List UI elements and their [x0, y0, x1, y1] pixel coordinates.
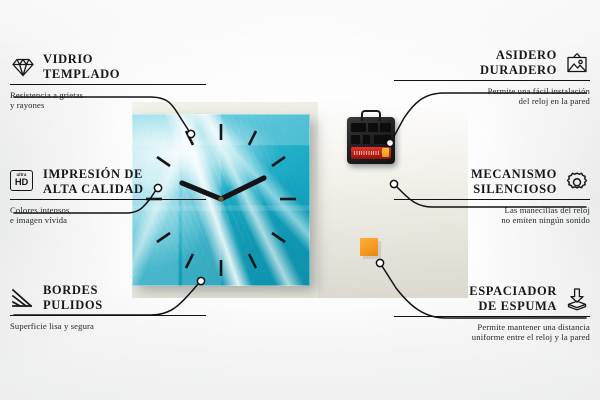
feature-divider: [394, 316, 590, 317]
hanging-picture-icon: [564, 51, 590, 75]
foam-spacer-pad: [360, 238, 378, 256]
gear-icon: [564, 170, 590, 194]
feature-desc-line2: del reloj en la pared: [394, 96, 590, 106]
feature-divider: [10, 315, 206, 316]
feature-title-line1: IMPRESIÓN DE: [43, 167, 144, 182]
diagonal-lines-icon: [10, 286, 36, 310]
infographic-page: VIDRIO TEMPLADO Resistencia a grietas y …: [0, 0, 600, 400]
feature-title-line2: DURADERO: [480, 63, 557, 78]
feature-bordes-pulidos: BORDES PULIDOS Superficie lisa y segura: [10, 283, 206, 331]
feature-mecanismo-silencioso: MECANISMO SILENCIOSO Las manecillas del …: [394, 167, 590, 226]
feature-title-line1: ESPACIADOR: [469, 284, 557, 299]
feature-title-line2: SILENCIOSO: [471, 182, 557, 197]
feature-title-line1: ASIDERO: [480, 48, 557, 63]
feature-description: Las manecillas del reloj no emiten ningú…: [394, 205, 590, 226]
feature-title-line2: DE ESPUMA: [469, 299, 557, 314]
diamond-icon: [10, 55, 36, 79]
feature-title: ASIDERO DURADERO: [480, 48, 557, 77]
clock-movement-mechanism: [347, 117, 395, 164]
feature-desc-line1: Permite mantener una distancia: [394, 322, 590, 332]
clock-minute-hand: [221, 178, 264, 199]
feature-title: IMPRESIÓN DE ALTA CALIDAD: [43, 167, 144, 196]
feature-espaciador-de-espuma: ESPACIADOR DE ESPUMA Permite mantener un…: [394, 284, 590, 343]
hd-icon-hd-text: HD: [15, 177, 28, 187]
feature-title-line1: MECANISMO: [471, 167, 557, 182]
feature-title: MECANISMO SILENCIOSO: [471, 167, 557, 196]
ultra-hd-icon: ultra HD: [10, 170, 36, 194]
battery-label-text: [354, 151, 380, 155]
movement-housing-detail: [351, 123, 391, 145]
feature-desc-line2: e imagen vívida: [10, 215, 206, 225]
feature-header: ESPACIADOR DE ESPUMA: [394, 284, 590, 313]
feature-divider: [394, 199, 590, 200]
feature-title: BORDES PULIDOS: [43, 283, 103, 312]
feature-divider: [10, 84, 206, 85]
feature-description: Superficie lisa y segura: [10, 321, 206, 331]
feature-header: ultra HD IMPRESIÓN DE ALTA CALIDAD: [10, 167, 206, 196]
feature-header: VIDRIO TEMPLADO: [10, 52, 206, 81]
arrow-press-foam-icon: [564, 287, 590, 311]
feature-impresion-alta-calidad: ultra HD IMPRESIÓN DE ALTA CALIDAD Color…: [10, 167, 206, 226]
feature-title-line1: VIDRIO: [43, 52, 120, 67]
movement-battery: [351, 147, 391, 159]
feature-desc-line1: Colores intensos: [10, 205, 206, 215]
feature-header: ASIDERO DURADERO: [394, 48, 590, 77]
feature-desc-line1: Resistencia a grietas: [10, 90, 206, 100]
feature-desc-line2: no emiten ningún sonido: [394, 215, 590, 225]
feature-header: BORDES PULIDOS: [10, 283, 206, 312]
feature-asidero-duradero: ASIDERO DURADERO Permite una fácil insta…: [394, 48, 590, 107]
feature-description: Permite mantener una distancia uniforme …: [394, 322, 590, 343]
feature-title-line2: TEMPLADO: [43, 67, 120, 82]
feature-title: VIDRIO TEMPLADO: [43, 52, 120, 81]
feature-desc-line1: Permite una fácil instalación: [394, 86, 590, 96]
movement-hanger-icon: [361, 110, 381, 121]
feature-header: MECANISMO SILENCIOSO: [394, 167, 590, 196]
feature-title: ESPACIADOR DE ESPUMA: [469, 284, 557, 313]
feature-divider: [394, 80, 590, 81]
feature-description: Permite una fácil instalación del reloj …: [394, 86, 590, 107]
feature-divider: [10, 199, 206, 200]
clock-center-pin: [218, 196, 223, 201]
feature-title-line2: ALTA CALIDAD: [43, 182, 144, 197]
feature-description: Colores intensos e imagen vívida: [10, 205, 206, 226]
feature-desc-line1: Superficie lisa y segura: [10, 321, 206, 331]
feature-desc-line1: Las manecillas del reloj: [394, 205, 590, 215]
feature-title-line2: PULIDOS: [43, 298, 103, 313]
feature-description: Resistencia a grietas y rayones: [10, 90, 206, 111]
feature-desc-line2: uniforme entre el reloj y la pared: [394, 332, 590, 342]
feature-vidrio-templado: VIDRIO TEMPLADO Resistencia a grietas y …: [10, 52, 206, 111]
feature-desc-line2: y rayones: [10, 100, 206, 110]
battery-positive-terminal: [382, 148, 389, 157]
feature-title-line1: BORDES: [43, 283, 103, 298]
